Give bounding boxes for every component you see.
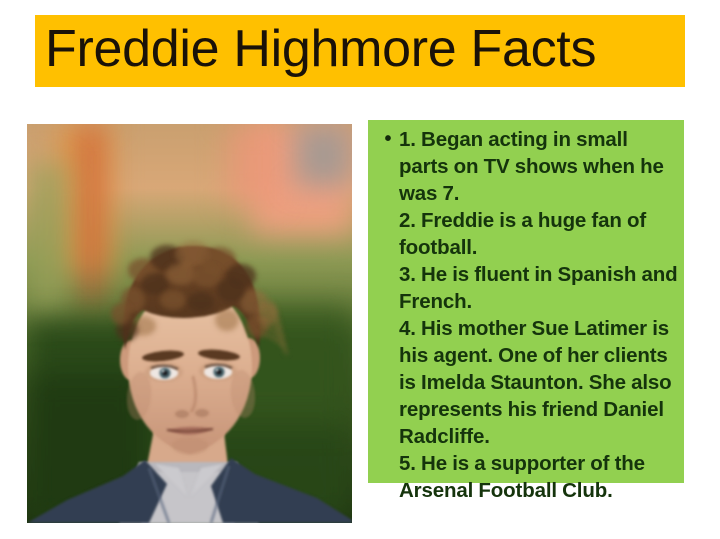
list-item: 1. Began acting in small parts on TV sho…	[399, 126, 680, 207]
page-title: Freddie Highmore Facts	[45, 15, 596, 85]
list-item: 5. He is a supporter of the Arsenal Foot…	[399, 450, 680, 504]
list-item: 3. He is fluent in Spanish and French.	[399, 261, 680, 315]
portrait-photo-canvas	[27, 124, 352, 523]
facts-list: 1. Began acting in small parts on TV sho…	[399, 126, 680, 504]
portrait-photo	[27, 124, 352, 523]
title-banner: Freddie Highmore Facts	[35, 15, 685, 87]
list-item: 4. His mother Sue Latimer is his agent. …	[399, 315, 680, 450]
facts-box: • 1. Began acting in small parts on TV s…	[368, 120, 684, 483]
list-item: 2. Freddie is a huge fan of football.	[399, 207, 680, 261]
bullet-icon: •	[377, 126, 399, 153]
facts-bullet-row: • 1. Began acting in small parts on TV s…	[377, 126, 680, 504]
